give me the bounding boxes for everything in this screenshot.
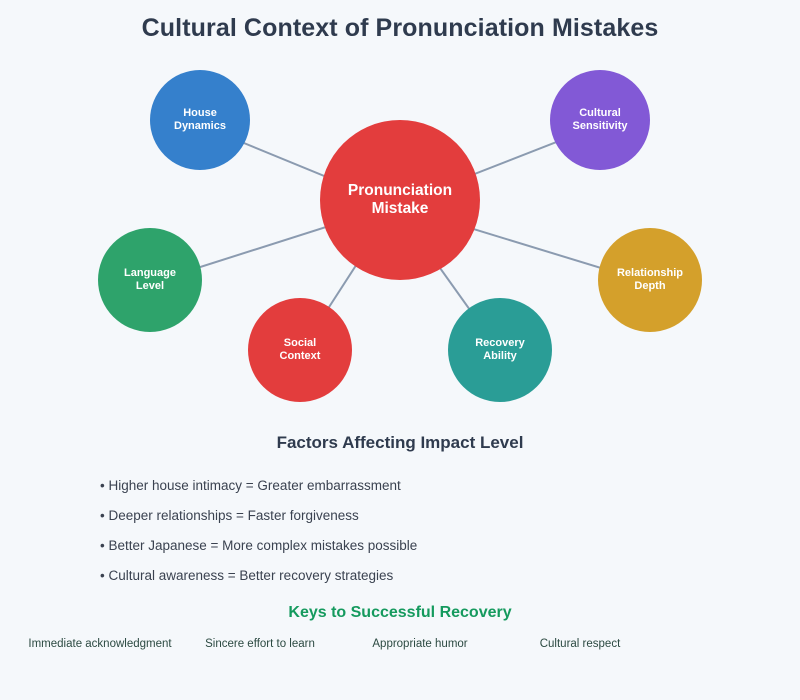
recovery-key-item: Appropriate humor: [372, 638, 467, 650]
node-label-recovery-ability: Recovery Ability: [448, 337, 552, 363]
node-pronunciation-mistake[interactable]: Pronunciation Mistake: [320, 120, 480, 280]
page-title: Cultural Context of Pronunciation Mistak…: [0, 14, 800, 43]
recovery-key-item: Cultural respect: [540, 638, 621, 650]
factor-item: • Higher house intimacy = Greater embarr…: [100, 478, 401, 493]
factor-item: • Cultural awareness = Better recovery s…: [100, 568, 393, 583]
recovery-keys-row: Immediate acknowledgmentSincere effort t…: [0, 638, 800, 658]
node-label-language-level: Language Level: [98, 267, 202, 293]
recovery-heading: Keys to Successful Recovery: [0, 604, 800, 622]
recovery-key-item: Immediate acknowledgment: [28, 638, 171, 650]
node-house-dynamics[interactable]: House Dynamics: [150, 70, 250, 170]
node-social-context[interactable]: Social Context: [248, 298, 352, 402]
node-label-pronunciation-mistake: Pronunciation Mistake: [320, 182, 480, 219]
node-cultural-sensitivity[interactable]: Cultural Sensitivity: [550, 70, 650, 170]
node-label-cultural-sensitivity: Cultural Sensitivity: [550, 107, 650, 133]
factor-item: • Better Japanese = More complex mistake…: [100, 538, 417, 553]
node-relationship-depth[interactable]: Relationship Depth: [598, 228, 702, 332]
node-network-diagram: Pronunciation MistakeHouse DynamicsCultu…: [0, 55, 800, 410]
node-label-relationship-depth: Relationship Depth: [598, 267, 702, 293]
factors-heading: Factors Affecting Impact Level: [0, 433, 800, 453]
factor-item: • Deeper relationships = Faster forgiven…: [100, 508, 359, 523]
diagram-canvas: Cultural Context of Pronunciation Mistak…: [0, 0, 800, 700]
node-label-house-dynamics: House Dynamics: [150, 107, 250, 133]
node-language-level[interactable]: Language Level: [98, 228, 202, 332]
node-recovery-ability[interactable]: Recovery Ability: [448, 298, 552, 402]
node-label-social-context: Social Context: [248, 337, 352, 363]
recovery-key-item: Sincere effort to learn: [205, 638, 315, 650]
